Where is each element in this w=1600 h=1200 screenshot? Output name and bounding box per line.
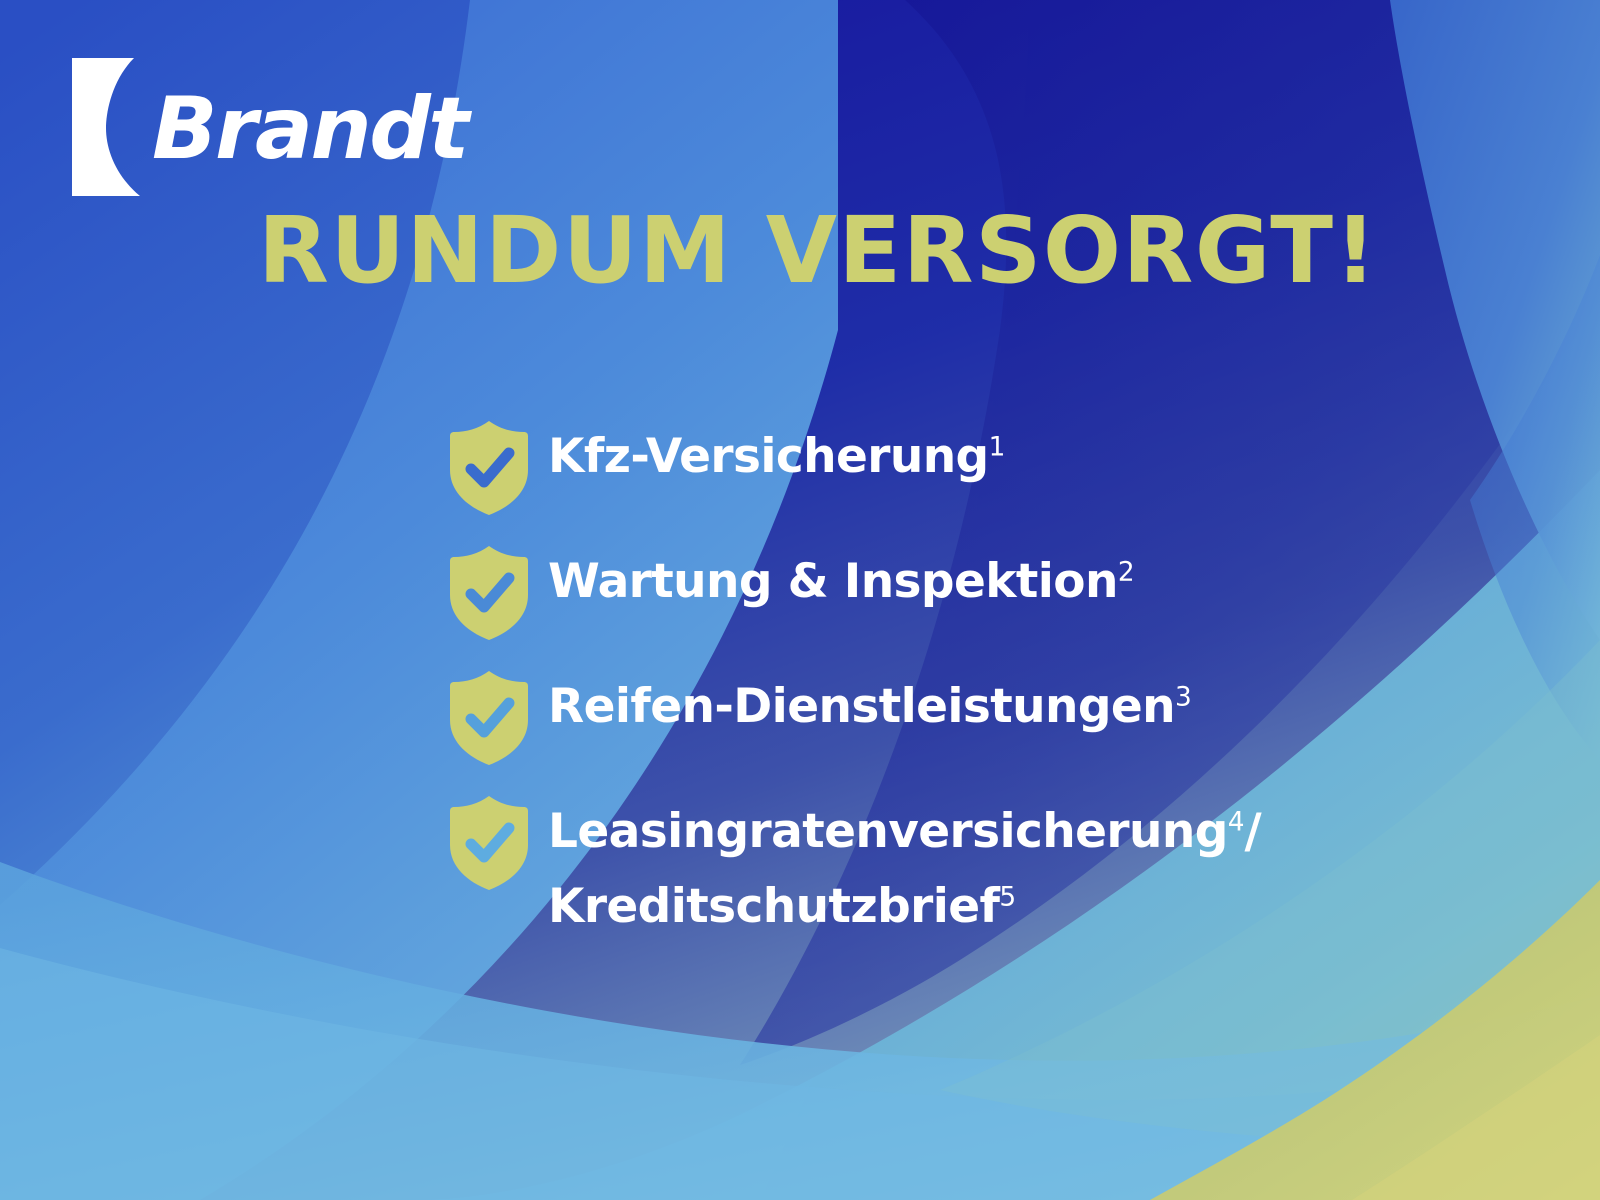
footnote-marker: 4 — [1228, 807, 1245, 837]
footnote-marker: 1 — [989, 432, 1006, 462]
bracket-mark-icon — [72, 58, 148, 196]
brand-name: Brandt — [152, 86, 467, 172]
list-item: Kfz-Versicherung1 — [448, 418, 1538, 543]
list-item-label-second-line: Kreditschutzbrief5 — [548, 879, 1016, 934]
list-item: Reifen-Dienstleistungen3 — [448, 668, 1538, 793]
footnote-marker: 5 — [999, 882, 1015, 912]
benefit-separator: / — [1245, 804, 1262, 859]
page-title: RUNDUM VERSORGT! — [258, 203, 1378, 300]
shield-check-icon — [448, 545, 530, 641]
list-item: Wartung & Inspektion2 — [448, 543, 1538, 668]
shield-check-icon — [448, 420, 530, 516]
benefit-label: Wartung & Inspektion — [548, 554, 1118, 609]
benefit-label: Leasingratenversicherung — [548, 804, 1228, 859]
shield-check-icon — [448, 670, 530, 766]
list-item-label: Reifen-Dienstleistungen3 — [548, 668, 1192, 747]
benefit-label-2: Kreditschutzbrief — [548, 879, 999, 934]
list-item-label: Leasingratenversicherung4/ — [548, 793, 1261, 872]
list-item-label: Wartung & Inspektion2 — [548, 543, 1135, 622]
footnote-marker: 2 — [1118, 557, 1135, 587]
footnote-marker: 3 — [1175, 682, 1192, 712]
benefit-label: Kfz-Versicherung — [548, 429, 989, 484]
benefit-label: Reifen-Dienstleistungen — [548, 679, 1175, 734]
benefits-list: Kfz-Versicherung1 Wartung & Inspektion2 … — [448, 418, 1538, 993]
list-item: Leasingratenversicherung4/ Kreditschutzb… — [448, 793, 1538, 993]
brand-logo[interactable]: Brandt — [72, 52, 467, 202]
shield-check-icon — [448, 795, 530, 891]
list-item-label: Kfz-Versicherung1 — [548, 418, 1005, 497]
promo-graphic: Brandt RUNDUM VERSORGT! Kfz-Versicherung… — [0, 0, 1600, 1200]
